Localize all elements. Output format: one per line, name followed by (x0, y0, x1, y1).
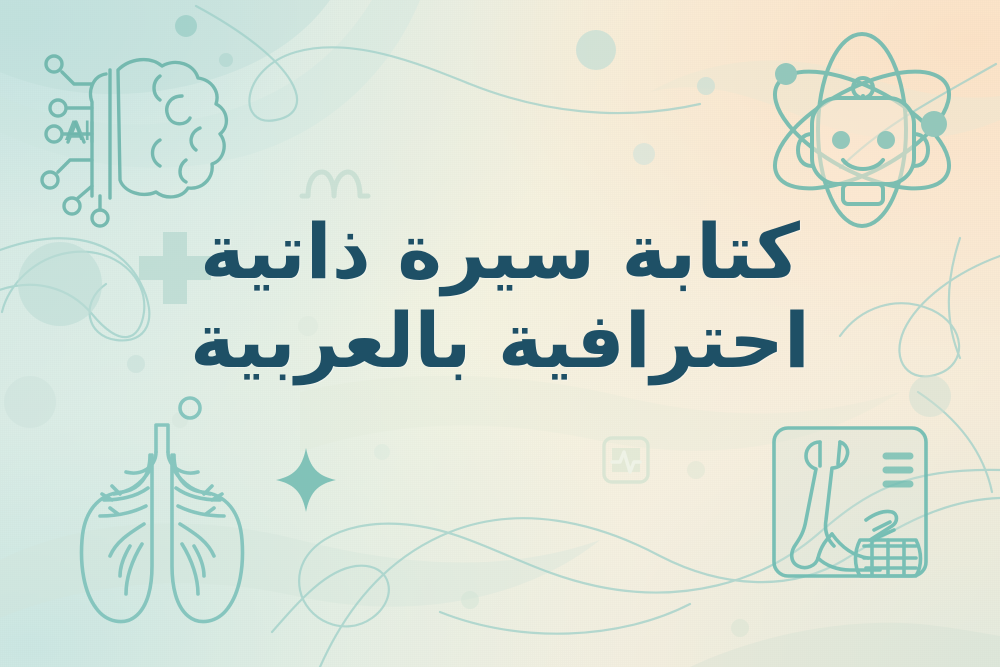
robot-atom-icon (758, 34, 967, 226)
svg-text:AI: AI (65, 116, 91, 147)
lungs-icon (82, 398, 243, 622)
ecg-monitor-icon (604, 438, 648, 482)
banner-title: كتابة سيرة ذاتية احترافية بالعربية (0, 212, 1000, 381)
pulse-wave-icon (302, 172, 368, 196)
banner-canvas: AI (0, 0, 1000, 667)
xray-bones-icon (774, 428, 926, 576)
title-line-1: كتابة سيرة ذاتية (0, 212, 1000, 293)
ai-brain-label: AI (65, 116, 91, 147)
sparkle-icon (276, 448, 336, 512)
title-line-2: احترافية بالعربية (0, 301, 1000, 382)
